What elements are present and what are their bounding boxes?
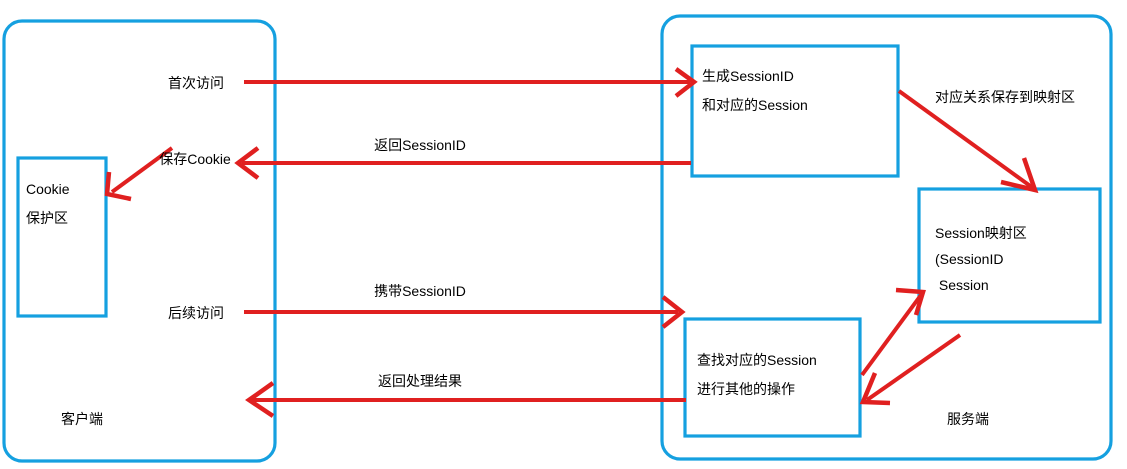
- cookie-store-line-2: 保护区: [26, 207, 68, 229]
- label-return-sessionid: 返回SessionID: [374, 135, 466, 155]
- label-subsequent-visit: 后续访问: [168, 303, 224, 323]
- arrow-query-map: [862, 290, 923, 375]
- generate-session-line-2: 和对应的Session: [702, 94, 808, 116]
- server-container-label: 服务端: [947, 409, 989, 429]
- lookup-session-line-1: 查找对应的Session: [697, 349, 817, 371]
- session-map-line-1: Session映射区: [935, 222, 1027, 244]
- arrow-map-response: [863, 335, 960, 403]
- cookie-store-line-1: Cookie: [26, 178, 70, 200]
- arrow-carry-sessionid: [244, 297, 682, 327]
- label-return-result: 返回处理结果: [378, 371, 462, 391]
- label-mapping-saved: 对应关系保存到映射区: [935, 87, 1075, 107]
- arrow-first-visit: [244, 69, 694, 96]
- diagram-canvas: 首次访问 返回SessionID 保存Cookie 对应关系保存到映射区 携带S…: [0, 0, 1127, 469]
- client-container: [4, 21, 275, 461]
- label-carry-sessionid: 携带SessionID: [374, 281, 466, 301]
- label-save-cookie: 保存Cookie: [159, 149, 231, 169]
- session-map-line-2: (SessionID: [935, 248, 1003, 270]
- client-container-label: 客户端: [61, 409, 103, 429]
- generate-session-line-1: 生成SessionID: [702, 65, 794, 87]
- arrow-return-result: [249, 383, 686, 416]
- lookup-session-line-2: 进行其他的操作: [697, 378, 795, 400]
- session-map-line-3: Session: [935, 274, 989, 296]
- label-first-visit: 首次访问: [168, 73, 224, 93]
